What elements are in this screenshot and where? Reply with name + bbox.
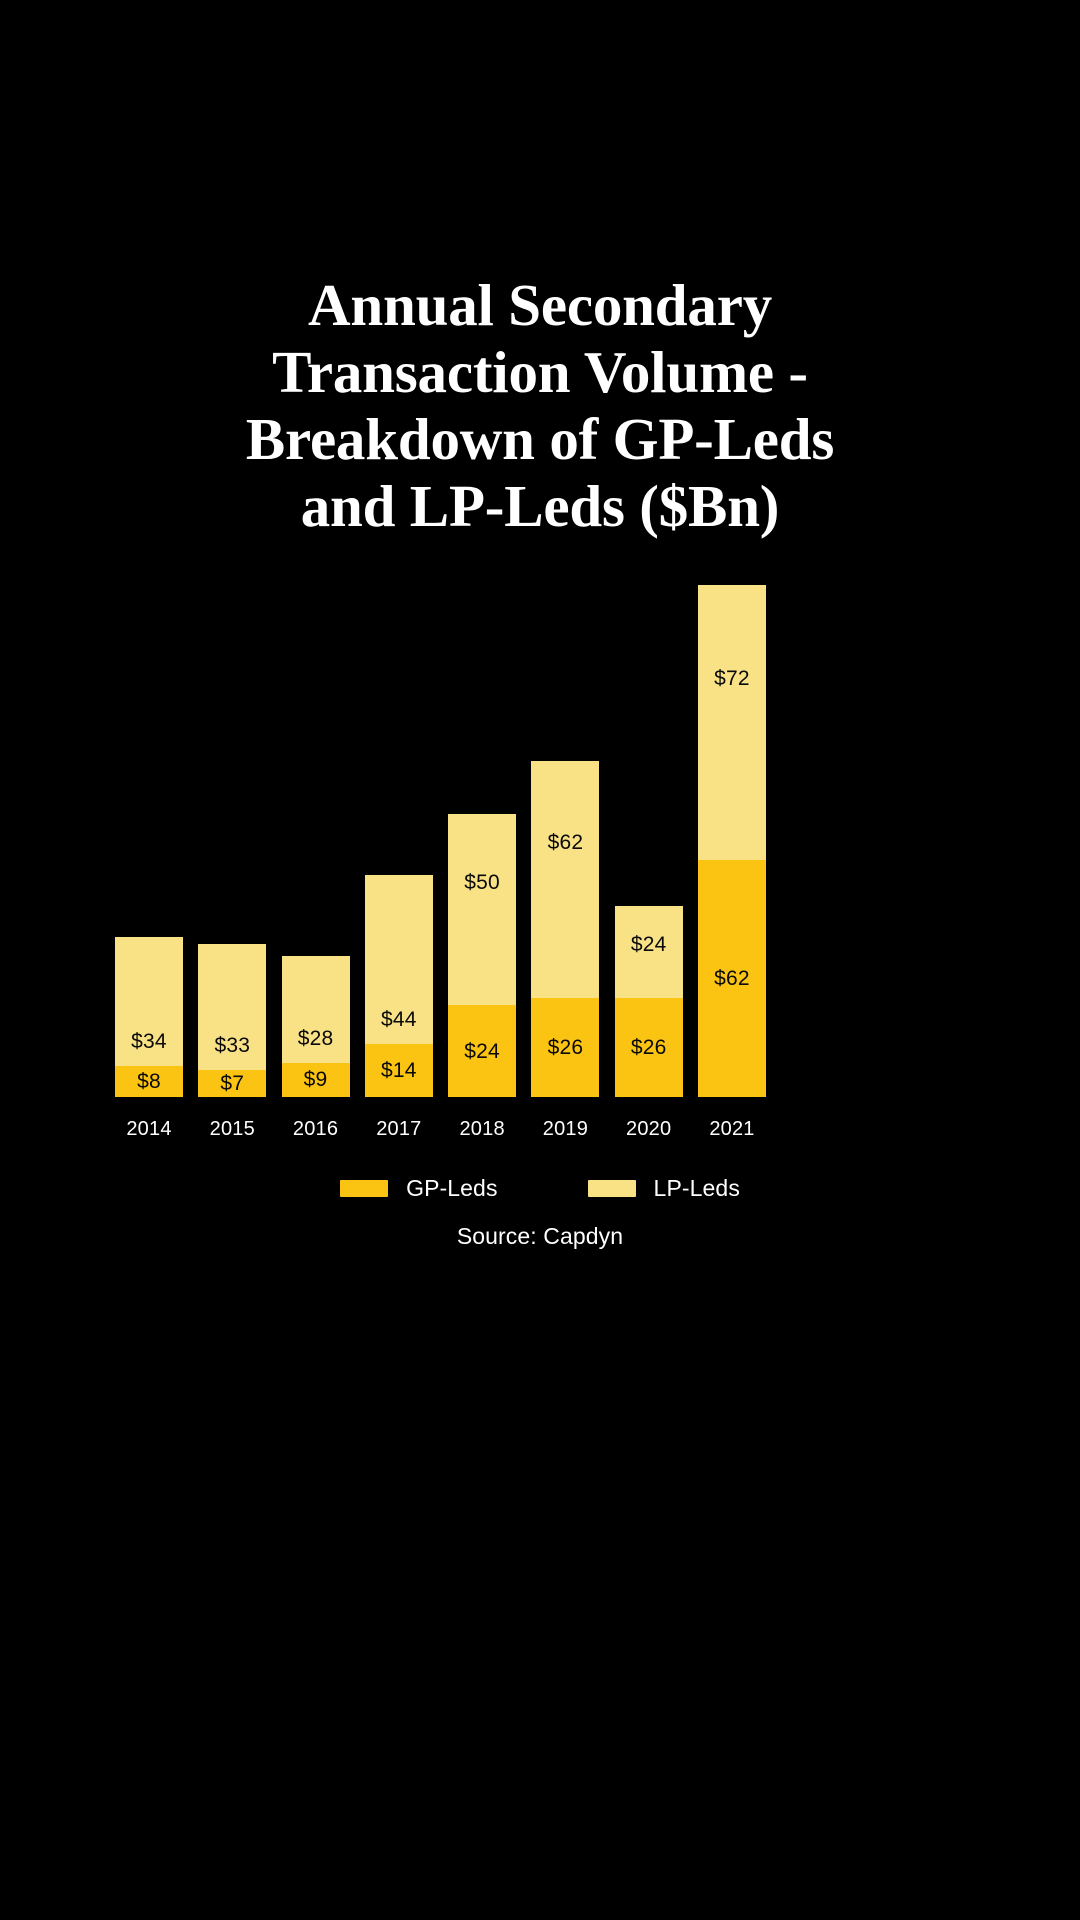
bar-segment-gp-leds-2017[interactable]: $14 [365, 1044, 433, 1097]
x-tick-2015: 2015 [198, 1118, 266, 1141]
bar-segment-gp-leds-2020[interactable]: $26 [615, 998, 683, 1097]
plot-area: $34$8$33$7$28$9$44$14$50$24$62$26$24$26$… [115, 585, 766, 1097]
bar-value-label-gp-2019: $26 [548, 1037, 584, 1058]
x-tick-2021: 2021 [698, 1118, 766, 1141]
bar-segment-gp-leds-2019[interactable]: $26 [531, 998, 599, 1097]
bar-value-label-lp-2017: $44 [381, 1009, 417, 1030]
bar-segment-gp-leds-2014[interactable]: $8 [115, 1066, 183, 1097]
x-tick-2016: 2016 [282, 1118, 350, 1141]
legend-swatch-icon-lp-leds [588, 1180, 636, 1197]
bar-2019[interactable]: $62$26 [531, 585, 599, 1097]
bar-segment-gp-leds-2018[interactable]: $24 [448, 1005, 516, 1097]
bar-2017[interactable]: $44$14 [365, 585, 433, 1097]
bar-2014[interactable]: $34$8 [115, 585, 183, 1097]
legend-label-lp-leds: LP-Leds [654, 1175, 740, 1202]
bar-value-label-lp-2019: $62 [548, 832, 584, 853]
bar-segment-gp-leds-2021[interactable]: $62 [698, 860, 766, 1097]
bar-segment-lp-leds-2019[interactable]: $62 [531, 761, 599, 998]
x-tick-2019: 2019 [531, 1118, 599, 1141]
x-tick-2014: 2014 [115, 1118, 183, 1141]
page-title: Annual Secondary Transaction Volume - Br… [0, 272, 1080, 540]
legend-label-gp-leds: GP-Leds [406, 1175, 497, 1202]
bar-value-label-gp-2014: $8 [137, 1071, 161, 1092]
bar-segment-lp-leds-2020[interactable]: $24 [615, 906, 683, 998]
bar-value-label-gp-2016: $9 [304, 1069, 328, 1090]
bar-value-label-gp-2015: $7 [220, 1073, 244, 1094]
chart-page: Annual Secondary Transaction Volume - Br… [0, 0, 1080, 1920]
bar-value-label-lp-2014: $34 [131, 1031, 167, 1052]
bar-segment-lp-leds-2018[interactable]: $50 [448, 814, 516, 1005]
legend-item-gp-leds[interactable]: GP-Leds [340, 1175, 497, 1202]
bar-segment-lp-leds-2015[interactable]: $33 [198, 944, 266, 1070]
bar-segment-gp-leds-2015[interactable]: $7 [198, 1070, 266, 1097]
bar-segment-lp-leds-2014[interactable]: $34 [115, 937, 183, 1067]
bar-segment-lp-leds-2016[interactable]: $28 [282, 956, 350, 1063]
bar-value-label-lp-2018: $50 [464, 872, 500, 893]
x-tick-2017: 2017 [365, 1118, 433, 1141]
bar-2015[interactable]: $33$7 [198, 585, 266, 1097]
bar-value-label-lp-2016: $28 [298, 1028, 334, 1049]
bar-value-label-gp-2020: $26 [631, 1037, 667, 1058]
title-line-2: Transaction Volume - [100, 339, 980, 406]
bar-value-label-lp-2015: $33 [214, 1035, 250, 1056]
title-line-1: Annual Secondary [100, 272, 980, 339]
bar-2016[interactable]: $28$9 [282, 585, 350, 1097]
bar-2020[interactable]: $24$26 [615, 585, 683, 1097]
bar-chart: $34$8$33$7$28$9$44$14$50$24$62$26$24$26$… [0, 585, 1080, 1110]
x-tick-2018: 2018 [448, 1118, 516, 1141]
bar-segment-lp-leds-2017[interactable]: $44 [365, 875, 433, 1043]
x-tick-2020: 2020 [615, 1118, 683, 1141]
bar-2018[interactable]: $50$24 [448, 585, 516, 1097]
bar-segment-gp-leds-2016[interactable]: $9 [282, 1063, 350, 1097]
bar-value-label-gp-2021: $62 [714, 968, 750, 989]
x-axis-labels: 20142015201620172018201920202021 [115, 1118, 766, 1141]
bar-segment-lp-leds-2021[interactable]: $72 [698, 585, 766, 860]
bar-value-label-gp-2017: $14 [381, 1060, 417, 1081]
bar-value-label-lp-2021: $72 [714, 668, 750, 689]
source-note: Source: Capdyn [0, 1223, 1080, 1250]
legend-swatch-icon-gp-leds [340, 1180, 388, 1197]
bar-value-label-gp-2018: $24 [464, 1041, 500, 1062]
legend-item-lp-leds[interactable]: LP-Leds [588, 1175, 740, 1202]
bar-value-label-lp-2020: $24 [631, 934, 667, 955]
bar-2021[interactable]: $72$62 [698, 585, 766, 1097]
title-line-4: and LP-Leds ($Bn) [100, 473, 980, 540]
chart-legend: GP-Leds LP-Leds [0, 1175, 1080, 1202]
title-line-3: Breakdown of GP-Leds [100, 406, 980, 473]
